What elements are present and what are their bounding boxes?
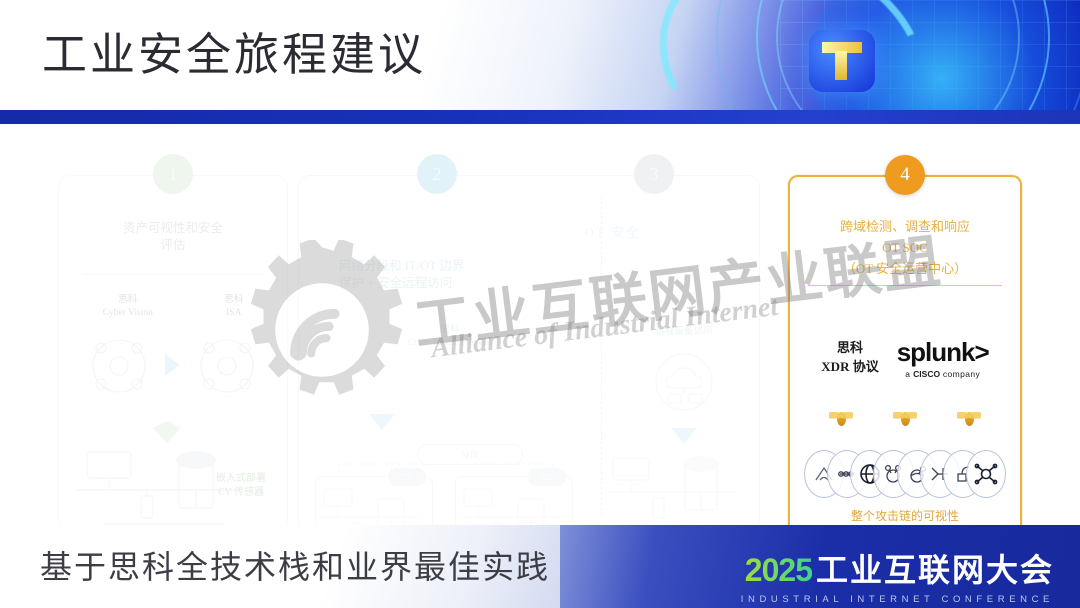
panel-ot-soc[interactable]: 4 跨域检测、调查和响应 OT SOC （OT 安全运营中心） 思科 XDR 协… bbox=[788, 175, 1022, 534]
panel-3-arrow-down bbox=[671, 428, 697, 444]
slide-footer: 基于思科全技术栈和业界最佳实践 2025 工业互联网大会 INDUSTRIAL … bbox=[0, 525, 1080, 608]
conference-name-cn: 工业互联网大会 bbox=[816, 545, 1054, 591]
conference-logo-main: 2025 工业互联网大会 bbox=[741, 545, 1054, 591]
slide-header: 工业安全旅程建议 bbox=[0, 0, 1080, 110]
bee-row bbox=[790, 410, 1020, 428]
panel-1-note: 嵌入式部署 CV 传感器 bbox=[199, 472, 283, 500]
page-title: 工业安全旅程建议 bbox=[42, 18, 426, 83]
splunk-wordmark: splunk> bbox=[897, 337, 989, 368]
bee-icon bbox=[829, 410, 853, 428]
footer-caption: 基于思科全技术栈和业界最佳实践 bbox=[40, 542, 550, 588]
panel-1-brand-row: 思科 Cyber Vision 思科 ISA bbox=[67, 294, 279, 321]
panel-segmentation-remote-access[interactable]: 2 OT 安全 网络分段和 IT/OT 边界 保护 + 安全远程访问 思科 Ci… bbox=[298, 175, 760, 532]
panel-4-logo-row: 思科 XDR 协议 splunk> a CISCO company bbox=[790, 337, 1020, 379]
t-logo-glyph bbox=[822, 42, 862, 80]
panel-4-number: 4 bbox=[885, 155, 925, 195]
header-blue-bar bbox=[0, 110, 1080, 124]
t-logo-icon bbox=[809, 30, 875, 92]
splunk-tagline: a CISCO company bbox=[897, 369, 989, 379]
panel-2-arrow-down bbox=[369, 414, 395, 430]
panel-3-label: 远程设备访问 bbox=[609, 326, 759, 339]
brand-isa: 思科 ISA bbox=[224, 294, 243, 321]
panel-2-brand-row: 思科 Cisco Secure Firewall bbox=[305, 324, 595, 351]
cloud-network-icon bbox=[609, 348, 759, 418]
conference-logo: 2025 工业互联网大会 INDUSTRIAL INTERNET CONFERE… bbox=[741, 545, 1054, 605]
panel-4-heading: 跨域检测、调查和响应 OT SOC （OT 安全运营中心） bbox=[790, 217, 1020, 279]
bee-icon bbox=[893, 410, 917, 428]
brand-secure-firewall: 思科 Cisco Secure Firewall bbox=[408, 324, 492, 351]
panel-1-number: 1 bbox=[153, 154, 193, 194]
conference-name-en: INDUSTRIAL INTERNET CONFERENCE bbox=[741, 594, 1054, 605]
shield-icon bbox=[147, 419, 187, 445]
attack-chain-caption: 整个攻击链的可视性 bbox=[790, 507, 1020, 524]
splunk-logo: splunk> a CISCO company bbox=[897, 337, 989, 379]
header-bar-cap bbox=[0, 124, 1080, 127]
bee-icon bbox=[957, 410, 981, 428]
panel-1-heading: 资产可视性和安全 评估 bbox=[59, 220, 287, 254]
cisco-xdr-logo: 思科 XDR 协议 bbox=[821, 339, 878, 377]
panel-remote-device-access[interactable]: 3 远程设备访问 bbox=[609, 176, 759, 531]
cv-badge-left: CV bbox=[388, 468, 426, 486]
panel-2-number: 2 bbox=[417, 154, 457, 194]
brand-cyber-vision: 思科 Cyber Vision bbox=[103, 294, 153, 321]
panel-3-number: 3 bbox=[634, 154, 674, 194]
panel-asset-visibility[interactable]: 1 资产可视性和安全 评估 思科 Cyber Vision 思科 ISA bbox=[58, 175, 288, 532]
diagram-stage: 1 资产可视性和安全 评估 思科 Cyber Vision 思科 ISA bbox=[0, 130, 1080, 525]
cv-badge-right: CV bbox=[528, 468, 566, 486]
conference-year: 2025 bbox=[745, 552, 812, 589]
panel-1-arrow bbox=[165, 354, 180, 376]
panel-4-divider bbox=[808, 285, 1001, 286]
panel-2-vertical-divider bbox=[601, 196, 602, 515]
panel-1-divider bbox=[82, 274, 264, 275]
attack-chain-row bbox=[804, 445, 1006, 503]
target-icon bbox=[966, 450, 1006, 498]
